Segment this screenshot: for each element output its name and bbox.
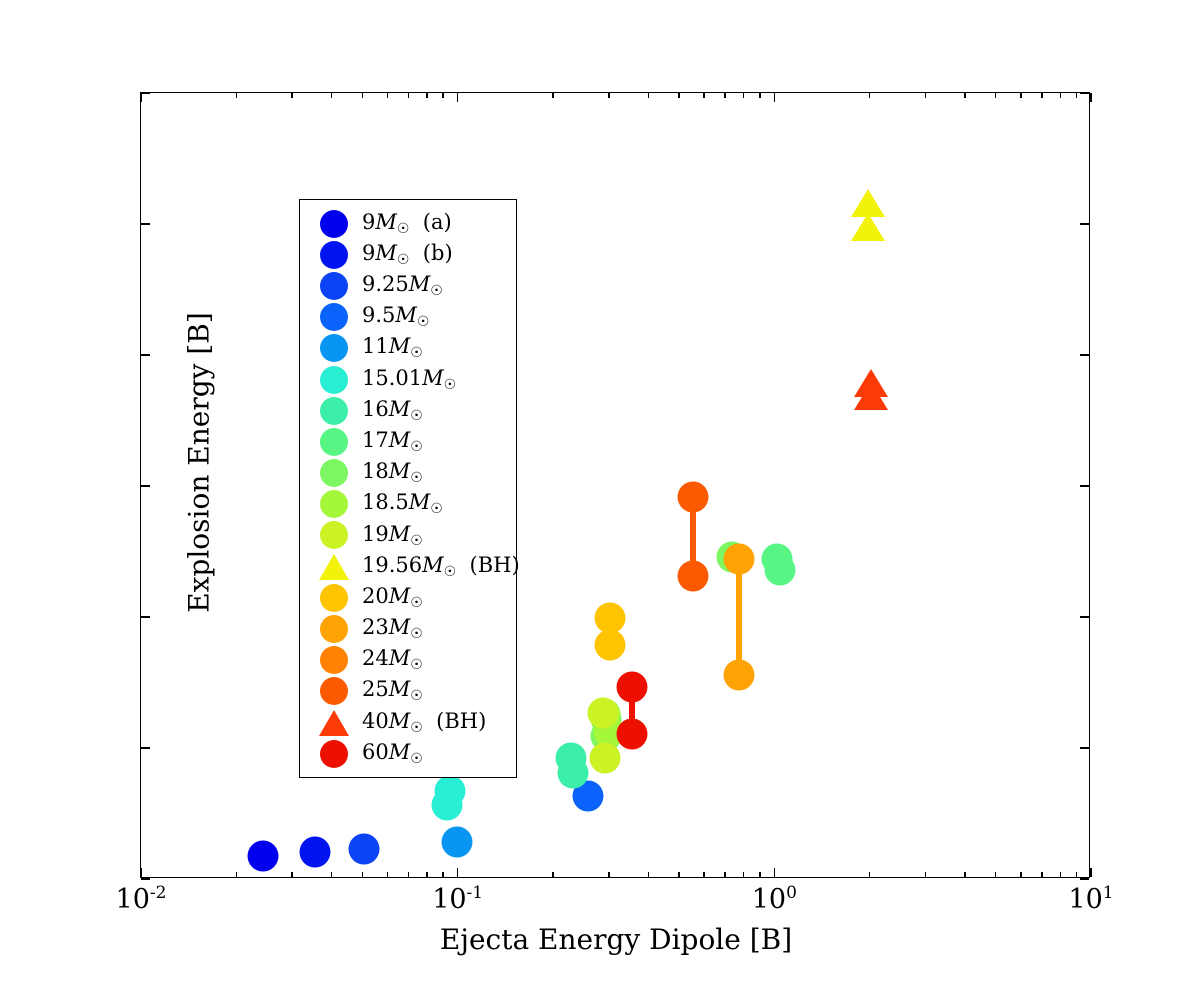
data-point-circle[interactable] — [764, 555, 795, 586]
legend-item[interactable]: 60M☉ — [306, 738, 510, 769]
legend-marker-icon — [306, 210, 362, 238]
circle-icon — [320, 490, 348, 518]
legend-marker-icon — [306, 490, 362, 518]
legend-item-label: 20M☉ — [362, 586, 423, 610]
data-point-circle[interactable] — [348, 834, 379, 865]
x-axis-label: Ejecta Energy Dipole [B] — [141, 923, 1091, 956]
data-point-circle[interactable] — [724, 543, 755, 574]
x-tick-label: 10-2 — [61, 883, 221, 915]
legend-marker-icon — [306, 334, 362, 362]
x-tick-mark — [1090, 93, 1092, 102]
data-point-circle[interactable] — [617, 671, 648, 702]
legend-item-label: 17M☉ — [362, 430, 423, 454]
legend-item-label: 23M☉ — [362, 617, 423, 641]
y-axis-label: Explosion Energy [B] — [183, 153, 216, 773]
legend-item[interactable]: 18.5M☉ — [306, 489, 510, 520]
legend-item[interactable]: 16M☉ — [306, 395, 510, 426]
legend-item[interactable]: 9.25M☉ — [306, 270, 510, 301]
x-tick-mark — [1090, 868, 1092, 877]
legend-item-label: 24M☉ — [362, 648, 423, 672]
legend-item[interactable]: 9M☉ (a) — [306, 208, 510, 239]
data-point-circle[interactable] — [441, 827, 472, 858]
legend-item[interactable]: 17M☉ — [306, 426, 510, 457]
legend-marker-icon — [306, 366, 362, 394]
legend-item-label: 19M☉ — [362, 524, 423, 548]
legend-item[interactable]: 19.56M☉ (BH) — [306, 551, 510, 582]
circle-icon — [320, 272, 348, 300]
legend-item[interactable]: 9M☉ (b) — [306, 239, 510, 270]
circle-icon — [320, 334, 348, 362]
legend-marker-icon — [306, 459, 362, 487]
legend-item[interactable]: 18M☉ — [306, 458, 510, 489]
legend-item-label: 9M☉ (b) — [362, 243, 453, 267]
circle-icon — [320, 584, 348, 612]
legend-item-label: 9M☉ (a) — [362, 212, 452, 236]
data-point-triangle[interactable] — [851, 213, 885, 241]
legend-item-label: 18M☉ — [362, 461, 423, 485]
legend-item-label: 9.5M☉ — [362, 305, 429, 329]
point-connector-line — [736, 559, 742, 675]
x-tick-label: 10-1 — [378, 883, 538, 915]
circle-icon — [320, 397, 348, 425]
legend-item[interactable]: 15.01M☉ — [306, 364, 510, 395]
data-point-circle[interactable] — [617, 719, 648, 750]
legend-marker-icon — [306, 521, 362, 549]
data-point-circle[interactable] — [724, 660, 755, 691]
legend-item-label: 60M☉ — [362, 742, 423, 766]
legend-item-label: 9.25M☉ — [362, 274, 443, 298]
circle-icon — [320, 459, 348, 487]
legend-item[interactable]: 9.5M☉ — [306, 302, 510, 333]
legend-marker-icon — [306, 303, 362, 331]
y-tick-mark — [1080, 878, 1089, 880]
triangle-icon — [319, 554, 349, 580]
legend-marker-icon — [306, 710, 362, 736]
figure-canvas: 9M☉ (a)9M☉ (b)9.25M☉9.5M☉11M☉15.01M☉16M☉… — [0, 0, 1200, 1000]
circle-icon — [320, 210, 348, 238]
legend-marker-icon — [306, 646, 362, 674]
circle-icon — [320, 521, 348, 549]
legend-item[interactable]: 40M☉ (BH) — [306, 707, 510, 738]
data-point-triangle[interactable] — [854, 382, 888, 410]
legend-item[interactable]: 19M☉ — [306, 520, 510, 551]
legend-marker-icon — [306, 397, 362, 425]
legend-item[interactable]: 11M☉ — [306, 333, 510, 364]
legend-item[interactable]: 25M☉ — [306, 676, 510, 707]
legend-marker-icon — [306, 241, 362, 269]
legend-item-label: 19.56M☉ (BH) — [362, 555, 520, 579]
legend-marker-icon — [306, 272, 362, 300]
plot-area: 9M☉ (a)9M☉ (b)9.25M☉9.5M☉11M☉15.01M☉16M☉… — [140, 92, 1090, 878]
data-point-circle[interactable] — [587, 698, 618, 729]
triangle-icon — [319, 710, 349, 736]
legend-marker-icon — [306, 584, 362, 612]
circle-icon — [320, 241, 348, 269]
data-point-circle[interactable] — [595, 629, 626, 660]
legend-item[interactable]: 24M☉ — [306, 645, 510, 676]
data-point-circle[interactable] — [677, 482, 708, 513]
legend-item-label: 15.01M☉ — [362, 368, 456, 392]
x-tick-label: 101 — [1011, 883, 1171, 915]
circle-icon — [320, 366, 348, 394]
circle-icon — [320, 646, 348, 674]
legend-marker-icon — [306, 554, 362, 580]
data-point-circle[interactable] — [431, 789, 462, 820]
data-point-circle[interactable] — [677, 560, 708, 591]
y-tick-mark — [141, 878, 150, 880]
circle-icon — [320, 740, 348, 768]
data-point-circle[interactable] — [248, 840, 279, 871]
legend[interactable]: 9M☉ (a)9M☉ (b)9.25M☉9.5M☉11M☉15.01M☉16M☉… — [299, 199, 517, 778]
circle-icon — [320, 615, 348, 643]
legend-marker-icon — [306, 615, 362, 643]
x-tick-label: 100 — [694, 883, 854, 915]
circle-icon — [320, 428, 348, 456]
data-point-circle[interactable] — [557, 758, 588, 789]
legend-item[interactable]: 23M☉ — [306, 613, 510, 644]
circle-icon — [320, 677, 348, 705]
data-point-circle[interactable] — [300, 837, 331, 868]
legend-item-label: 16M☉ — [362, 399, 423, 423]
legend-marker-icon — [306, 740, 362, 768]
data-point-circle[interactable] — [589, 742, 620, 773]
legend-item-label: 40M☉ (BH) — [362, 711, 486, 735]
legend-item-label: 18.5M☉ — [362, 492, 443, 516]
data-points-layer — [141, 93, 1089, 877]
legend-item[interactable]: 20M☉ — [306, 582, 510, 613]
legend-marker-icon — [306, 428, 362, 456]
legend-item-label: 25M☉ — [362, 679, 423, 703]
circle-icon — [320, 303, 348, 331]
legend-marker-icon — [306, 677, 362, 705]
legend-item-label: 11M☉ — [362, 336, 423, 360]
